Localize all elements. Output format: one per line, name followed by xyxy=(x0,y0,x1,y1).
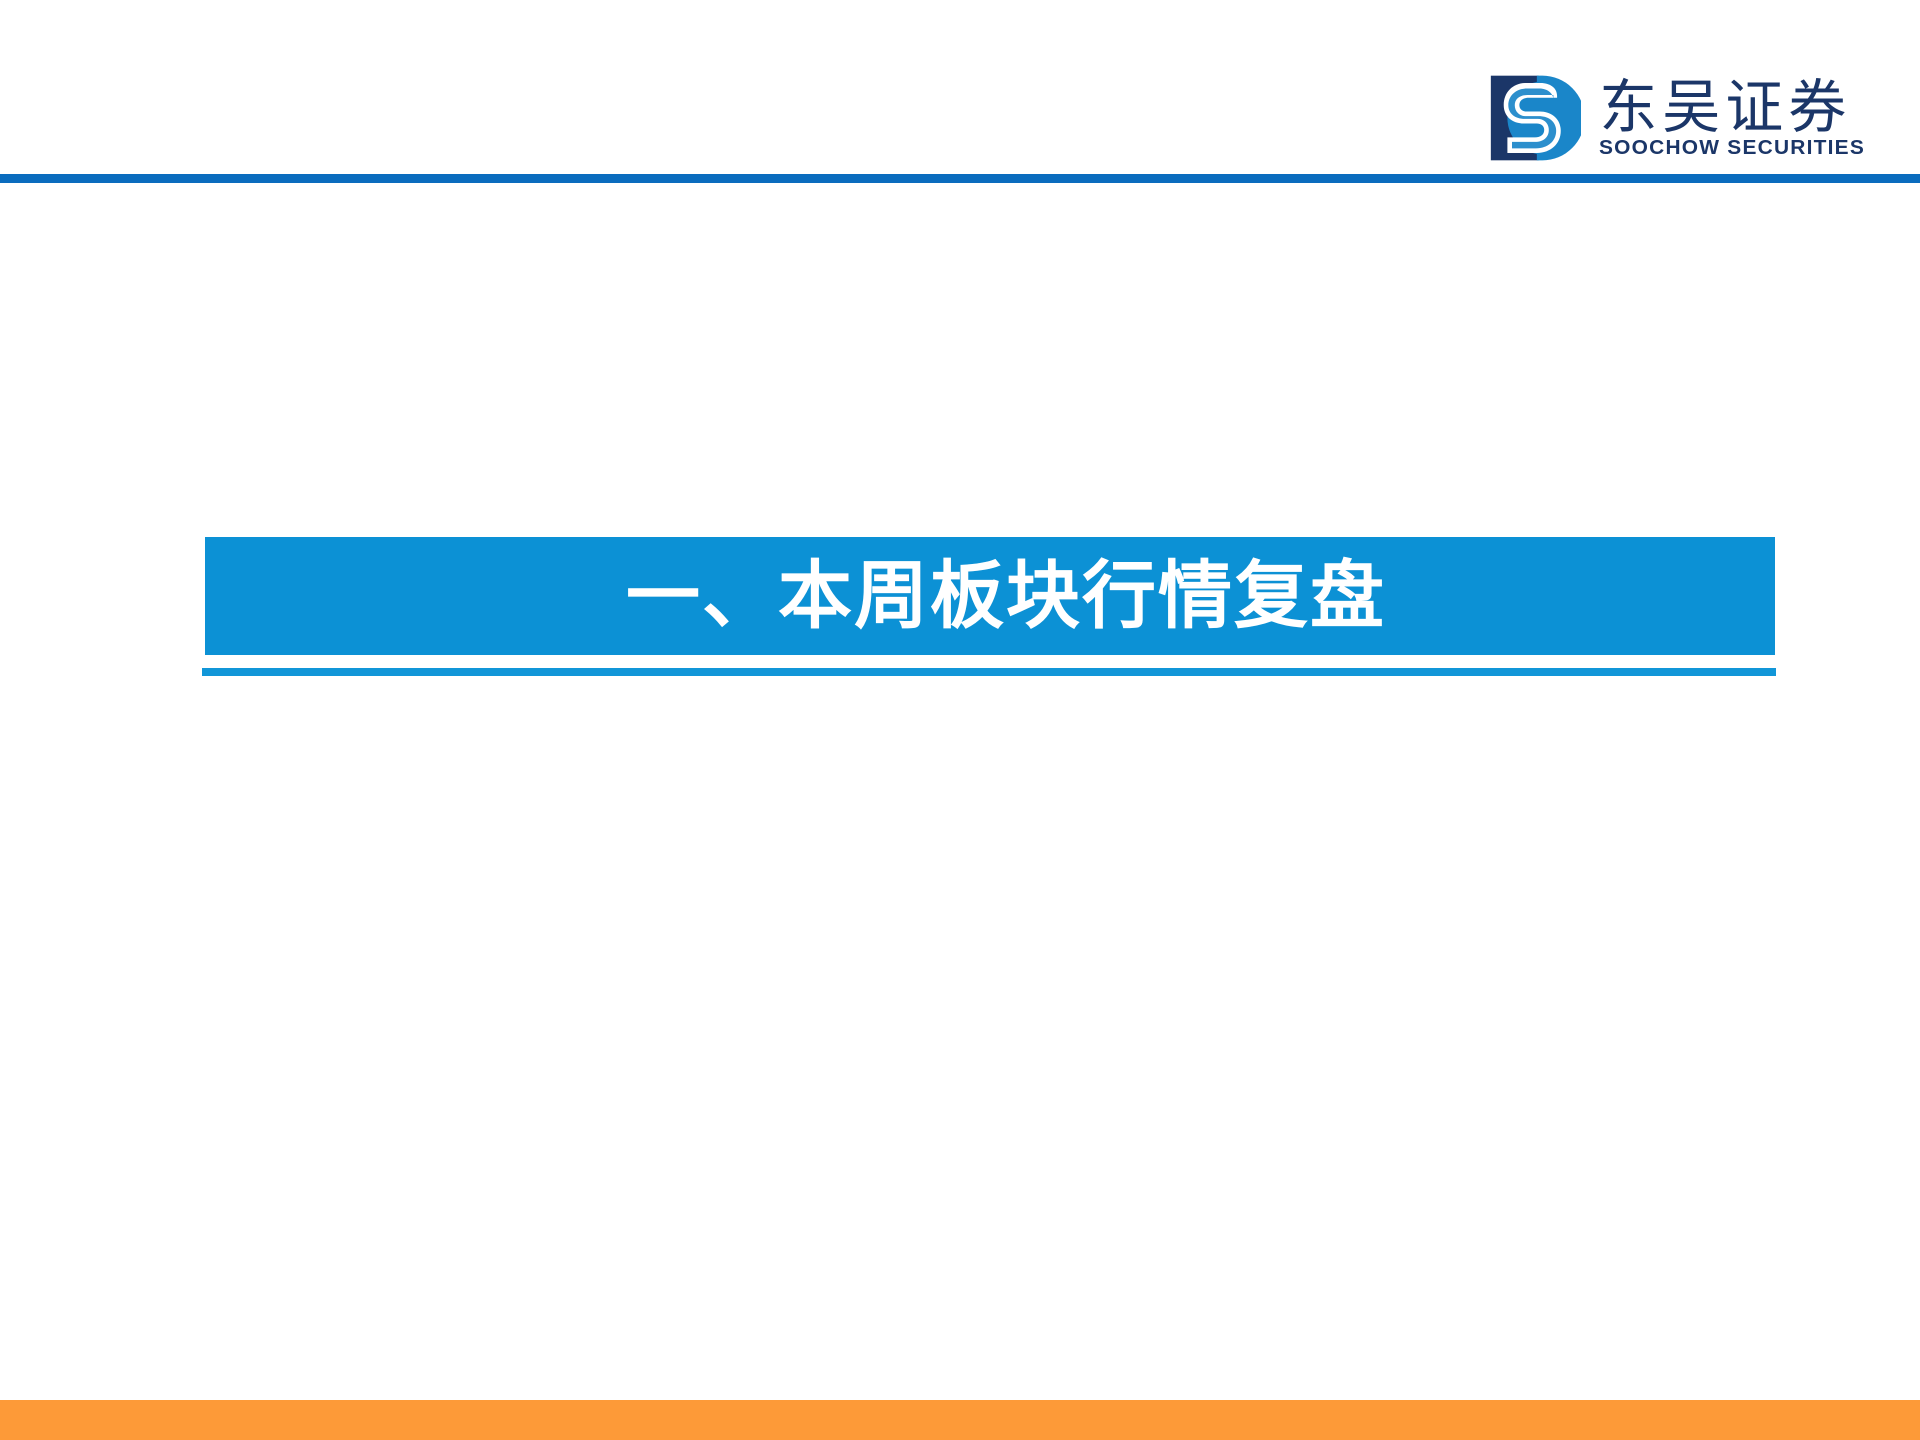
brand-name-cn: 东吴证券 xyxy=(1599,78,1860,136)
section-title-banner: 一、本周板块行情复盘 xyxy=(205,537,1775,655)
section-title-text: 一、本周板块行情复盘 xyxy=(626,559,1386,633)
header-rule xyxy=(0,174,1920,183)
section-banner-underbar xyxy=(202,668,1776,676)
brand-wordmark: 东吴证券 SOOCHOW SECURITIES xyxy=(1599,78,1860,159)
brand-logo: 东吴证券 SOOCHOW SECURITIES xyxy=(1489,72,1860,164)
brand-name-en: SOOCHOW SECURITIES xyxy=(1599,138,1865,159)
footer-accent-bar xyxy=(0,1400,1920,1440)
soochow-securities-logo-mark xyxy=(1489,72,1581,164)
presentation-slide: 东吴证券 SOOCHOW SECURITIES 一、本周板块行情复盘 xyxy=(0,0,1920,1440)
